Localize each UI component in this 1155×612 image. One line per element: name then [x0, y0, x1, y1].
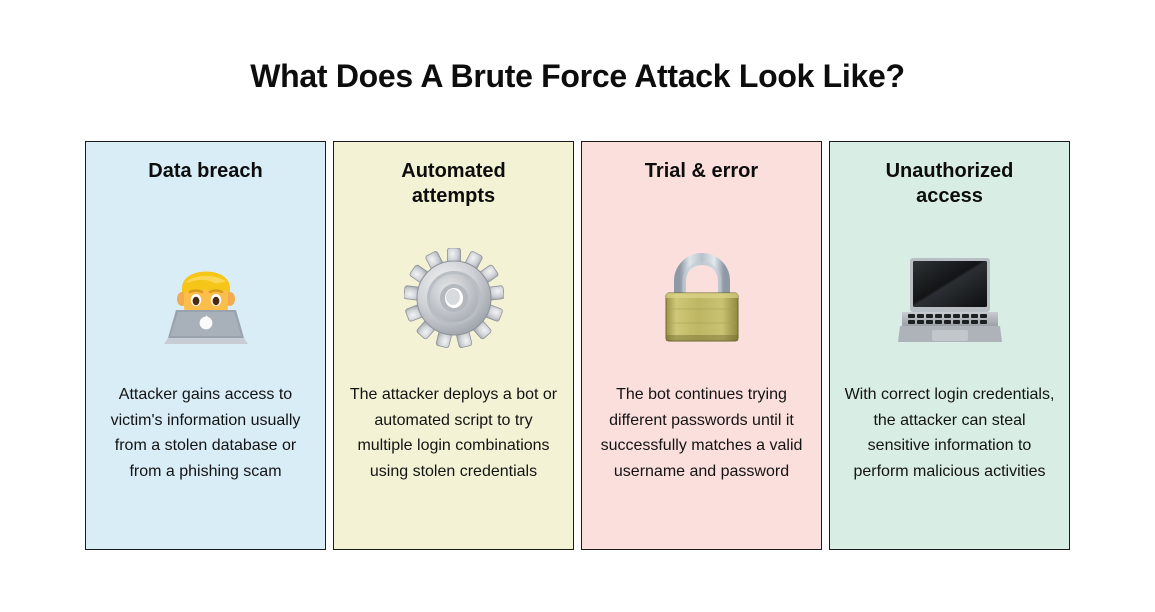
card-title: Trial & error	[645, 159, 758, 184]
padlock-icon	[582, 246, 821, 350]
man-technologist-icon	[86, 246, 325, 350]
card-title: Unauthorized access	[855, 159, 1045, 209]
card-body: The bot continues trying different passw…	[594, 382, 809, 484]
card-body: With correct login credentials, the atta…	[842, 382, 1057, 484]
card-title: Data breach	[148, 159, 263, 184]
gear-icon	[334, 246, 573, 350]
card-automated-attempts: Automated attempts	[333, 141, 574, 550]
card-row: Data breach	[85, 141, 1070, 550]
card-data-breach: Data breach	[85, 141, 326, 550]
card-title: Automated attempts	[359, 159, 549, 209]
laptop-icon	[830, 246, 1069, 350]
card-body: The attacker deploys a bot or automated …	[346, 382, 561, 484]
card-unauthorized-access: Unauthorized access	[829, 141, 1070, 550]
card-trial-and-error: Trial & error	[581, 141, 822, 550]
infographic-page: What Does A Brute Force Attack Look Like…	[0, 0, 1155, 612]
page-title: What Does A Brute Force Attack Look Like…	[0, 58, 1155, 95]
card-body: Attacker gains access to victim's inform…	[98, 382, 313, 484]
